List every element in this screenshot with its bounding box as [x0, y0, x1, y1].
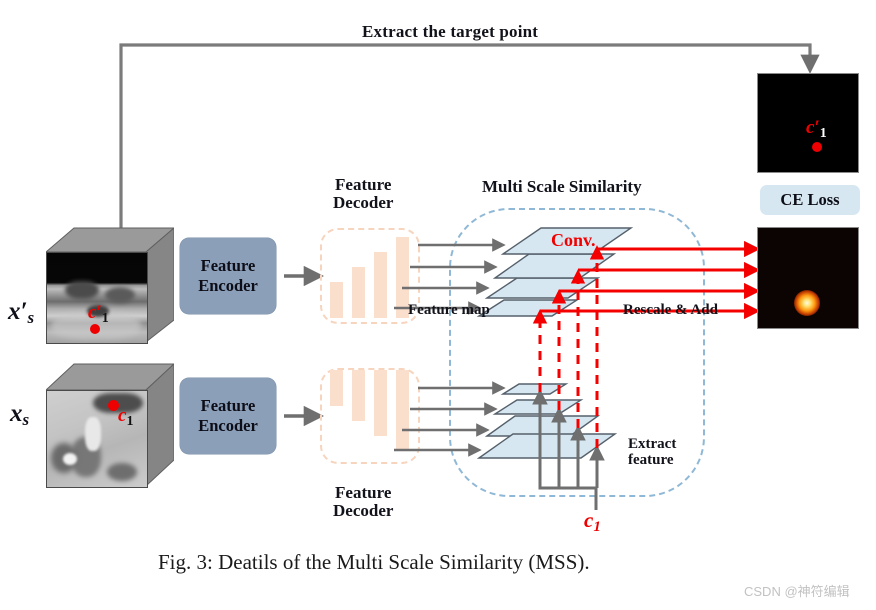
- ce-loss-label: CE Loss: [780, 190, 839, 210]
- figure-root: Extract the target point x′s: [0, 0, 876, 610]
- target-point-label: c′1: [806, 117, 827, 142]
- heatmap-peak: [794, 290, 820, 316]
- csdn-watermark: CSDN @神符编辑: [744, 581, 850, 600]
- rescale-add-label: Rescale & Add: [623, 303, 718, 319]
- ce-loss-box: CE Loss: [760, 185, 860, 215]
- target-point-marker: [812, 142, 822, 152]
- rescale-add-arrows: [0, 0, 876, 610]
- figure-caption: Fig. 3: Deatils of the Multi Scale Simil…: [158, 550, 590, 575]
- similarity-heatmap-panel: [757, 227, 859, 329]
